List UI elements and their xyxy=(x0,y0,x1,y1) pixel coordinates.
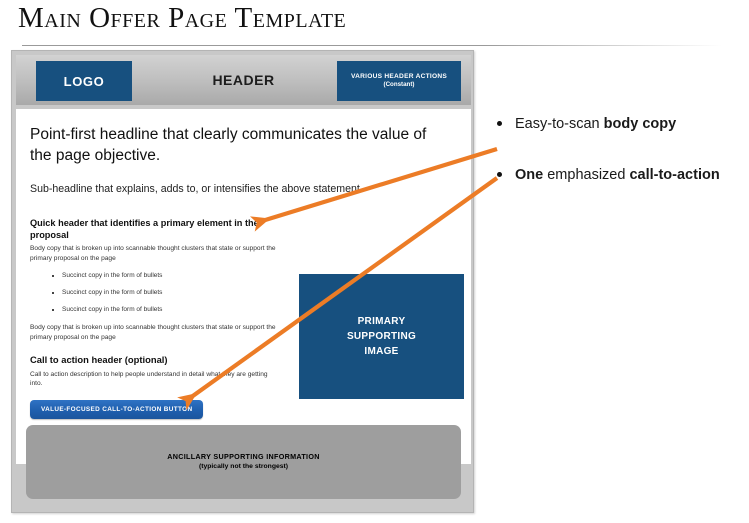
primary-image-line1: PRIMARY xyxy=(358,314,406,329)
primary-image-line3: IMAGE xyxy=(364,344,398,359)
bullet-dot-icon xyxy=(497,172,502,177)
page-mockup-frame: HEADER LOGO VARIOUS HEADER ACTIONS (Cons… xyxy=(11,50,474,513)
mock-cta-header: Call to action header (optional) xyxy=(30,354,280,366)
ancillary-information-block: ANCILLARY SUPPORTING INFORMATION (typica… xyxy=(26,425,461,499)
cta-button[interactable]: VALUE-FOCUSED CALL-TO-ACTION BUTTON xyxy=(30,400,203,419)
primary-image-line2: SUPPORTING xyxy=(347,329,416,344)
bullet-dot-icon xyxy=(497,121,502,126)
mock-subheadline: Sub-headline that explains, adds to, or … xyxy=(30,183,460,195)
annotation-call-to-action-text: One emphasized call-to-action xyxy=(515,165,720,186)
mock-logo-block[interactable]: LOGO xyxy=(36,61,132,101)
header-actions-line1: VARIOUS HEADER ACTIONS xyxy=(351,73,447,81)
list-item: Succinct copy in the form of bullets xyxy=(52,306,280,313)
mock-body-copy-2: Body copy that is broken up into scannab… xyxy=(30,323,280,342)
mock-cta-description: Call to action description to help peopl… xyxy=(30,370,280,389)
list-item: Succinct copy in the form of bullets xyxy=(52,289,280,296)
mock-header-actions-block[interactable]: VARIOUS HEADER ACTIONS (Constant) xyxy=(337,61,461,101)
mock-content-card: Point-first headline that clearly commun… xyxy=(16,109,471,464)
header-actions-line2: (Constant) xyxy=(384,81,415,89)
mock-bullet-list: Succinct copy in the form of bullets Suc… xyxy=(30,272,280,313)
ancillary-line2: (typically not the strongest) xyxy=(199,462,288,472)
primary-supporting-image-placeholder: PRIMARY SUPPORTING IMAGE xyxy=(299,274,464,399)
annotation-call-to-action: One emphasized call-to-action xyxy=(497,165,740,186)
mock-site-header: HEADER LOGO VARIOUS HEADER ACTIONS (Cons… xyxy=(16,55,471,105)
mock-body-copy-1: Body copy that is broken up into scannab… xyxy=(30,244,280,263)
mock-headline: Point-first headline that clearly commun… xyxy=(30,125,450,166)
title-divider xyxy=(22,45,722,46)
ancillary-line1: ANCILLARY SUPPORTING INFORMATION xyxy=(167,452,319,462)
page-title: Main Offer Page Template xyxy=(18,2,346,35)
mock-section-header: Quick header that identifies a primary e… xyxy=(30,217,280,241)
mock-left-column: Quick header that identifies a primary e… xyxy=(30,217,280,419)
annotation-body-copy: Easy-to-scan body copy xyxy=(497,114,745,135)
list-item: Succinct copy in the form of bullets xyxy=(52,272,280,279)
annotation-body-copy-text: Easy-to-scan body copy xyxy=(515,114,676,135)
